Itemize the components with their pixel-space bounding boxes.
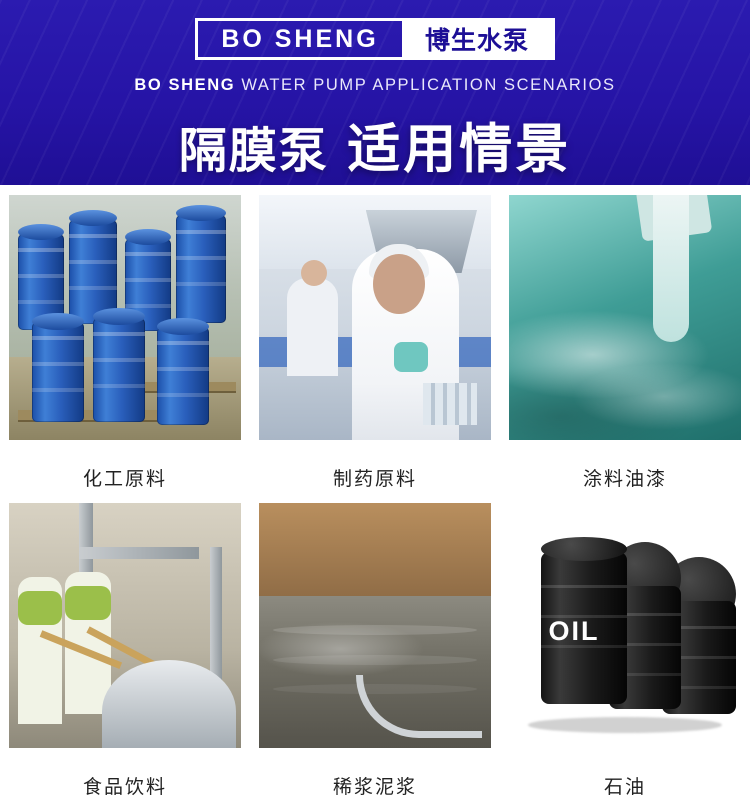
scenario-cell-pharma[interactable]: 制药原料	[250, 185, 500, 493]
brand-logo-chinese: 博生水泵	[402, 21, 552, 57]
brand-logo: BO SHENG 博生水泵	[195, 18, 555, 60]
scenario-image-oil: OIL	[509, 503, 741, 748]
black-oil-drums-illustration: OIL	[509, 503, 741, 748]
header-subtitle-text: WATER PUMP APPLICATION SCENARIOS	[241, 76, 615, 94]
scenario-caption-oil: 石油	[604, 772, 646, 799]
header-title-secondary: 适用情景	[347, 120, 571, 179]
scenario-cell-oil[interactable]: OIL 石油	[500, 493, 750, 801]
header-banner: BO SHENG 博生水泵 BO SHENG WATER PUMP APPLIC…	[0, 0, 750, 185]
scenario-cell-slurry[interactable]: 稀浆泥浆	[250, 493, 500, 801]
slurry-mud-illustration	[259, 503, 491, 748]
scenario-image-food	[9, 503, 241, 748]
oil-drum-label: OIL	[548, 616, 599, 647]
scenario-cell-food[interactable]: 食品饮料	[0, 493, 250, 801]
scenario-image-paint	[509, 195, 741, 440]
scenario-cell-paint[interactable]: 涂料油漆	[500, 185, 750, 493]
scenario-image-slurry	[259, 503, 491, 748]
scenario-caption-slurry: 稀浆泥浆	[333, 772, 417, 799]
scenario-caption-food: 食品饮料	[83, 772, 167, 799]
scenario-caption-pharma: 制药原料	[333, 464, 417, 491]
scenario-image-pharma	[259, 195, 491, 440]
scenario-caption-paint: 涂料油漆	[583, 464, 667, 491]
scenario-caption-chemical: 化工原料	[83, 464, 167, 491]
scenario-grid: 化工原料 制药原料	[0, 185, 750, 801]
scenario-cell-chemical[interactable]: 化工原料	[0, 185, 250, 493]
header-subtitle-brand: BO SHENG	[134, 76, 235, 94]
pharmaceutical-lab-illustration	[259, 195, 491, 440]
header-title: 隔膜泵 适用情景	[0, 107, 750, 183]
teal-paint-pour-illustration	[509, 195, 741, 440]
brand-logo-english: BO SHENG	[198, 21, 402, 57]
blue-chemical-drums-illustration	[9, 195, 241, 440]
food-beverage-factory-illustration	[9, 503, 241, 748]
scenario-image-chemical	[9, 195, 241, 440]
header-title-primary: 隔膜泵	[179, 125, 329, 178]
header-subtitle: BO SHENG WATER PUMP APPLICATION SCENARIO…	[0, 76, 750, 95]
page-root: BO SHENG 博生水泵 BO SHENG WATER PUMP APPLIC…	[0, 0, 750, 801]
